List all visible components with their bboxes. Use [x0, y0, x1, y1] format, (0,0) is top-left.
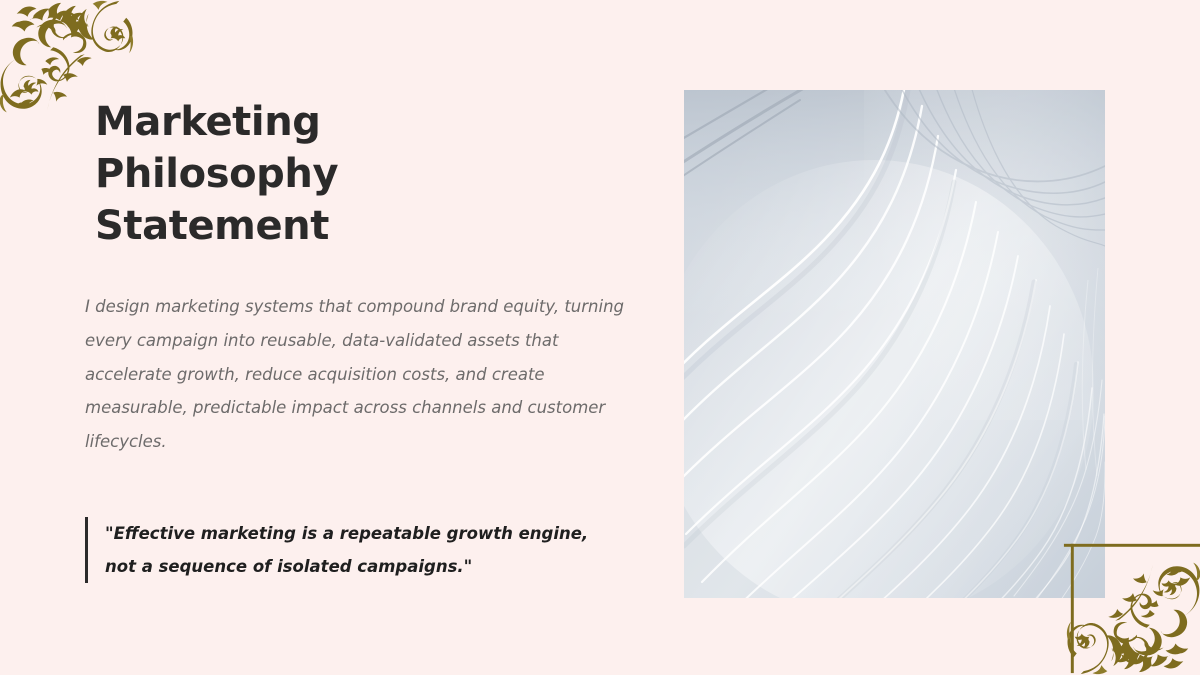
abstract-wave-graphic	[684, 90, 1105, 598]
abstract-wave-image	[684, 90, 1105, 598]
pull-quote-text: "Effective marketing is a repeatable gro…	[105, 517, 605, 583]
text-content-column: Marketing Philosophy Statement I design …	[85, 96, 655, 583]
pull-quote-block: "Effective marketing is a repeatable gro…	[85, 517, 605, 583]
page-title: Marketing Philosophy Statement	[85, 96, 495, 252]
body-paragraph: I design marketing systems that compound…	[85, 290, 633, 459]
slide-canvas: Marketing Philosophy Statement I design …	[0, 0, 1200, 675]
